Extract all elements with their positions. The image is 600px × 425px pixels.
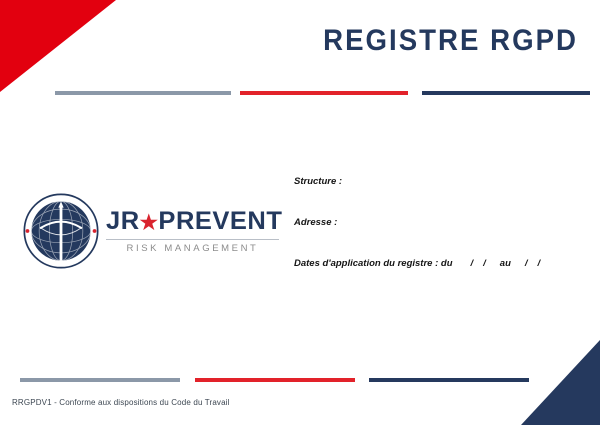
globe-compass-emblem-icon bbox=[22, 192, 100, 270]
field-dates-label: Dates d'application du registre : du bbox=[294, 258, 453, 269]
footer-rule-navy bbox=[369, 378, 529, 382]
footer-divider-rules bbox=[20, 378, 532, 382]
logo-star-icon: ★ bbox=[140, 212, 159, 234]
footer-compliance-note: RRGPDV1 - Conforme aux dispositions du C… bbox=[12, 398, 230, 407]
date-slash-1: / bbox=[471, 258, 474, 269]
date-slash-2: / bbox=[483, 258, 486, 269]
date-slash-4: / bbox=[538, 258, 541, 269]
logo-wordmark: JR★PREVENT bbox=[106, 209, 282, 234]
top-left-red-triangle bbox=[0, 0, 116, 92]
page-title: REGISTRE RGPD bbox=[323, 24, 578, 58]
field-dates-connector: au bbox=[500, 258, 511, 269]
header-rule-gray bbox=[55, 91, 231, 95]
bottom-right-navy-triangle bbox=[521, 340, 600, 425]
header-rule-navy bbox=[422, 91, 590, 95]
logo-wordmark-prefix: JR bbox=[106, 207, 140, 235]
logo-tagline: RISK MANAGEMENT bbox=[106, 239, 279, 254]
field-adresse-label: Adresse : bbox=[294, 217, 584, 228]
cover-form-fields: Structure : Adresse : Dates d'applicatio… bbox=[294, 176, 584, 269]
footer-rule-red bbox=[195, 378, 355, 382]
footer-rule-gray bbox=[20, 378, 180, 382]
logo-text-block: JR★PREVENT RISK MANAGEMENT bbox=[106, 209, 279, 254]
company-logo: JR★PREVENT RISK MANAGEMENT bbox=[22, 192, 279, 270]
field-dates-row: Dates d'application du registre : du//au… bbox=[294, 258, 584, 269]
logo-wordmark-suffix: PREVENT bbox=[158, 207, 282, 235]
header-divider-rules bbox=[55, 91, 590, 95]
date-slash-3: / bbox=[525, 258, 528, 269]
field-structure-label: Structure : bbox=[294, 176, 584, 187]
registre-rgpd-cover-page: REGISTRE RGPD JR★PREVENT bbox=[0, 0, 600, 425]
header-rule-red bbox=[240, 91, 408, 95]
